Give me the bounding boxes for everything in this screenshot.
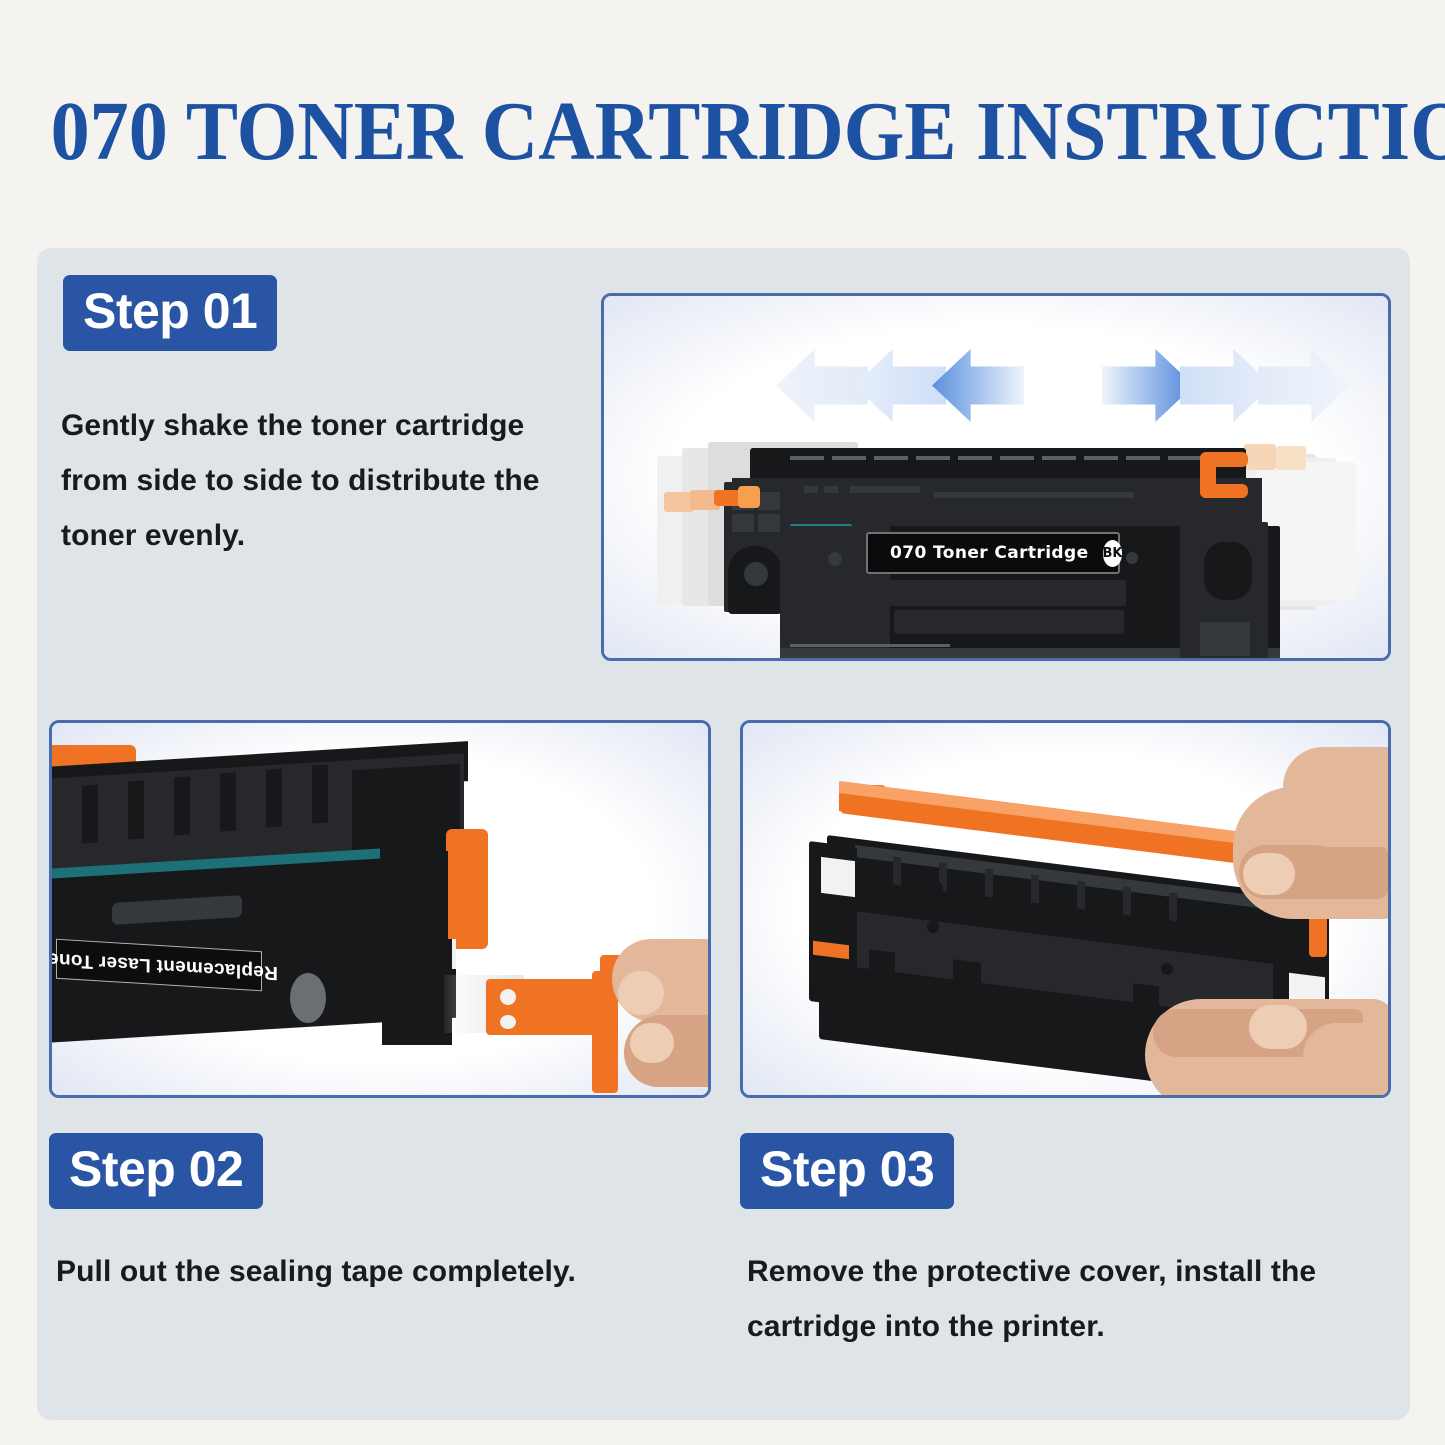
cartridge-rib xyxy=(1169,892,1177,921)
cartridge-screw xyxy=(828,552,842,566)
motion-ghost-orange xyxy=(1244,444,1276,470)
cartridge-mirror-label-text: Replacement Laser Toner xyxy=(49,947,278,984)
cartridge-right-body xyxy=(382,939,452,1045)
cartridge-vent xyxy=(824,486,838,493)
cartridge-vent xyxy=(804,486,818,493)
cartridge-rib xyxy=(832,456,866,460)
step-02-badge: Step 02 xyxy=(49,1133,263,1209)
step-01-badge: Step 01 xyxy=(63,275,277,351)
cartridge-groove xyxy=(874,580,1126,606)
page-title: 070 TONER CARTRIDGE INSTRUCTION xyxy=(51,84,1395,180)
cartridge-vent xyxy=(869,949,895,976)
cartridge-rib xyxy=(790,456,824,460)
orange-handle-right-icon xyxy=(1200,452,1248,467)
cartridge-rib xyxy=(1077,880,1085,909)
cartridge-screw xyxy=(1126,552,1138,564)
cartridge-fin xyxy=(82,785,98,844)
cartridge-cover-graphic xyxy=(743,723,1388,1095)
hand-lower-back xyxy=(1303,1023,1391,1098)
cartridge-rib xyxy=(1123,886,1131,915)
step-02-image-panel: Replacement Laser Toner xyxy=(49,720,711,1098)
cartridge-right-roller xyxy=(1204,542,1252,600)
cartridge-rib xyxy=(985,868,993,897)
cartridge-rib xyxy=(893,856,901,885)
cartridge-rib xyxy=(1084,456,1118,460)
cartridge-rib xyxy=(916,456,950,460)
hand-upper-back xyxy=(1283,747,1391,847)
step-01-image-panel: 070 Toner Cartridge BK xyxy=(601,293,1391,661)
cartridge-pin xyxy=(929,881,943,895)
cartridge-left-hub xyxy=(744,562,768,586)
cartridge-rib xyxy=(1126,456,1160,460)
cartridge-vent xyxy=(953,959,981,989)
cartridge-seam xyxy=(934,492,1134,498)
orange-handle-left-icon xyxy=(738,486,760,508)
cartridge-white-gear xyxy=(821,857,855,897)
cartridge-rib xyxy=(1042,456,1076,460)
cartridge-bk-badge: BK xyxy=(1103,540,1123,567)
tape-tab-hole xyxy=(500,1015,516,1029)
cartridge-rib xyxy=(874,456,908,460)
cartridge-vent xyxy=(1133,983,1159,1010)
fingernail xyxy=(1249,1005,1307,1049)
cartridge-left-slot xyxy=(732,514,754,532)
cartridge-fin xyxy=(220,773,236,832)
tape-tab-hole xyxy=(500,989,516,1005)
motion-ghost-orange xyxy=(1276,446,1306,470)
cartridge-rib xyxy=(1000,456,1034,460)
step-01-description: Gently shake the toner cartridge from si… xyxy=(61,398,586,563)
orange-handle-right-icon xyxy=(1200,484,1248,498)
cartridge-pin xyxy=(1161,963,1173,975)
cartridge-fin xyxy=(312,765,328,824)
fingernail xyxy=(630,1023,674,1063)
cartridge-edge-highlight xyxy=(790,644,950,647)
cartridge-rib xyxy=(958,456,992,460)
cartridge-label-text: 070 Toner Cartridge xyxy=(890,543,1089,563)
cartridge-left-slot xyxy=(758,492,780,510)
step-03-image-panel xyxy=(740,720,1391,1098)
cartridge-pin xyxy=(1161,919,1175,933)
cartridge-left-slot xyxy=(758,514,780,532)
cartridge-rib xyxy=(1031,874,1039,903)
step-03-description: Remove the protective cover, install the… xyxy=(747,1244,1347,1354)
cartridge-fin xyxy=(128,781,144,840)
cartridge-fin xyxy=(174,777,190,836)
cartridge-fin xyxy=(266,769,282,828)
cartridge-drum-hub xyxy=(290,973,326,1023)
cartridge-vent xyxy=(850,486,920,493)
fingernail xyxy=(618,971,664,1015)
cartridge-pin xyxy=(927,921,939,933)
cartridge-label-plate: 070 Toner Cartridge BK xyxy=(866,532,1120,574)
step-03-badge: Step 03 xyxy=(740,1133,954,1209)
step-02-description: Pull out the sealing tape completely. xyxy=(56,1244,676,1299)
cartridge-tape-graphic: Replacement Laser Toner xyxy=(52,723,708,1095)
cartridge-rib xyxy=(1168,456,1202,460)
toner-cartridge-graphic: 070 Toner Cartridge BK xyxy=(604,296,1388,658)
fingernail xyxy=(1243,853,1295,895)
cartridge-top-rail xyxy=(750,448,1246,480)
cartridge-ledge xyxy=(894,610,1124,634)
cartridge-right-block xyxy=(1200,622,1250,656)
